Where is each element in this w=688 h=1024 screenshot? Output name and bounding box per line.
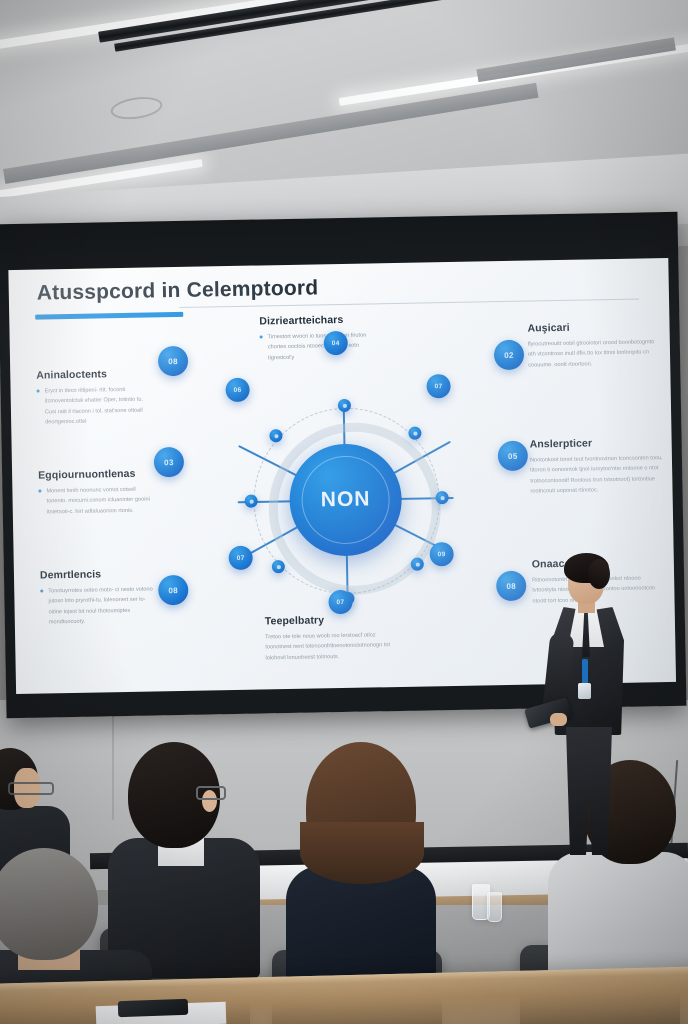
wall-seam bbox=[112, 700, 114, 820]
presenter bbox=[540, 555, 636, 855]
attendee-body bbox=[548, 852, 688, 982]
lanyard-strap bbox=[582, 659, 588, 685]
label-heading: Demrtlencis bbox=[40, 567, 155, 581]
spoke-node[interactable]: 03 bbox=[154, 447, 185, 478]
smartphone[interactable] bbox=[118, 999, 189, 1017]
title-accent-rule bbox=[35, 312, 183, 320]
spoke-node[interactable]: 08 bbox=[158, 575, 189, 606]
hub-and-spoke-diagram: NON 06 08 04 07 02 03 05 07 08 07 bbox=[138, 330, 564, 668]
connector-node bbox=[408, 427, 421, 440]
connector-node bbox=[435, 491, 448, 504]
diagram-label-left-1: Aninaloctents Eryct in tleco ritlipeni- … bbox=[36, 368, 149, 428]
connector-node bbox=[272, 560, 285, 573]
smoke-detector-icon bbox=[109, 94, 163, 122]
glasses-icon bbox=[196, 786, 226, 800]
connector-node bbox=[411, 558, 424, 571]
spoke-node[interactable]: 06 bbox=[225, 378, 249, 402]
attendee-hair bbox=[300, 822, 424, 884]
label-heading: Egqiournuontlenas bbox=[38, 467, 156, 481]
spoke-node[interactable]: 09 bbox=[429, 542, 453, 566]
label-body: Eryct in tleco ritlipeni- rtit. foconti … bbox=[37, 385, 150, 428]
presenter-hand bbox=[550, 713, 567, 726]
spoke-node[interactable]: 07 bbox=[328, 590, 352, 614]
ceiling-duct bbox=[476, 37, 676, 82]
attendee-body bbox=[286, 866, 436, 986]
spoke-node[interactable]: 04 bbox=[324, 331, 348, 355]
presenter-trousers bbox=[564, 727, 614, 855]
spoke-node[interactable]: 07 bbox=[426, 374, 450, 398]
glasses-icon bbox=[8, 782, 54, 795]
spoke-node[interactable]: 07 bbox=[228, 546, 252, 570]
diagram-label-left-2: Egqiournuontlenas Monent lonih noonunc v… bbox=[38, 467, 157, 517]
label-heading: Dizrieartteichars bbox=[259, 313, 384, 327]
attendee-head bbox=[0, 848, 98, 960]
badge-icon bbox=[578, 683, 591, 699]
label-body: Tonotuyrrotes ooteo moto- ci nesto voton… bbox=[40, 584, 156, 627]
spoke-node[interactable]: 08 bbox=[496, 571, 527, 602]
presenter-hair bbox=[588, 559, 610, 589]
spoke-node[interactable]: 05 bbox=[498, 441, 529, 472]
spoke-node[interactable]: 08 bbox=[158, 346, 189, 377]
label-body: Monent lonih noonunc vomot cotsell torie… bbox=[38, 484, 157, 517]
conference-room-scene: Atusspcord in Celemptoord Aninaloctents … bbox=[0, 0, 688, 1024]
spoke-node[interactable]: 02 bbox=[494, 340, 525, 371]
label-heading: Aninaloctents bbox=[36, 368, 148, 382]
diagram-label-left-3: Demrtlencis Tonotuyrrotes ooteo moto- ci… bbox=[40, 567, 156, 627]
hub-label: NON bbox=[321, 487, 371, 512]
page-title: Atusspcord in Celemptoord bbox=[37, 276, 319, 305]
water-glass[interactable] bbox=[487, 892, 502, 922]
